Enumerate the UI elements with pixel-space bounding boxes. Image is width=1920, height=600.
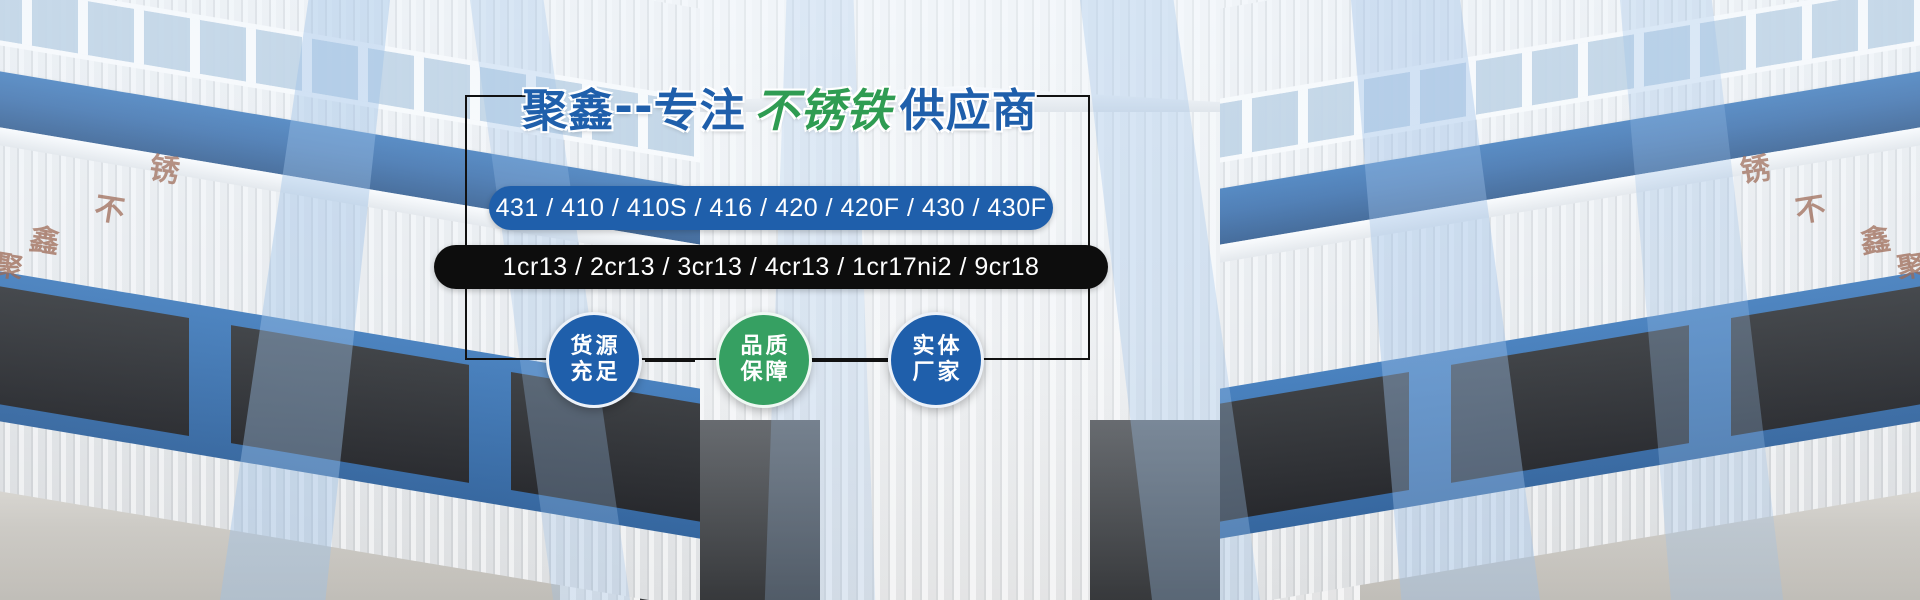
banner-content: 聚鑫--专注不锈铁供应商 431 / 410 / 410S / 416 / 42… [0,0,1920,600]
badge-factory: 实体 厂家 [888,312,984,408]
badge-supply-line1: 货源 [567,334,620,360]
headline-part-supplier: 供应商 [900,84,1038,137]
grade-bar-dark-text: 1cr13 / 2cr13 / 3cr13 / 4cr13 / 1cr17ni2… [503,253,1040,282]
headline: 聚鑫--专注不锈铁供应商 [0,74,1560,139]
badge-quality-line1: 品质 [737,334,790,360]
headline-part-company: 聚鑫 [522,84,614,137]
badge-factory-line1: 实体 [909,334,962,360]
badge-connector-line [645,360,695,362]
badge-quality: 品质 保障 [716,312,812,408]
promo-banner: 锈 不 鑫 聚 锈 不 鑫 聚 [0,0,1920,600]
badge-supply-line2: 充足 [567,360,620,386]
headline-dashes: -- [614,80,653,133]
badge-quality-line2: 保障 [737,360,790,386]
badge-factory-line2: 厂家 [909,360,962,386]
badge-connector-line [812,360,888,362]
badge-supply: 货源 充足 [546,312,642,408]
grade-bar-blue-text: 431 / 410 / 410S / 416 / 420 / 420F / 43… [496,194,1047,223]
headline-part-focus: 专注 [654,84,746,137]
headline-highlight-material: 不锈铁 [746,84,900,137]
grade-bar-dark: 1cr13 / 2cr13 / 3cr13 / 4cr13 / 1cr17ni2… [434,245,1108,289]
grade-bar-blue: 431 / 410 / 410S / 416 / 420 / 420F / 43… [489,186,1053,230]
